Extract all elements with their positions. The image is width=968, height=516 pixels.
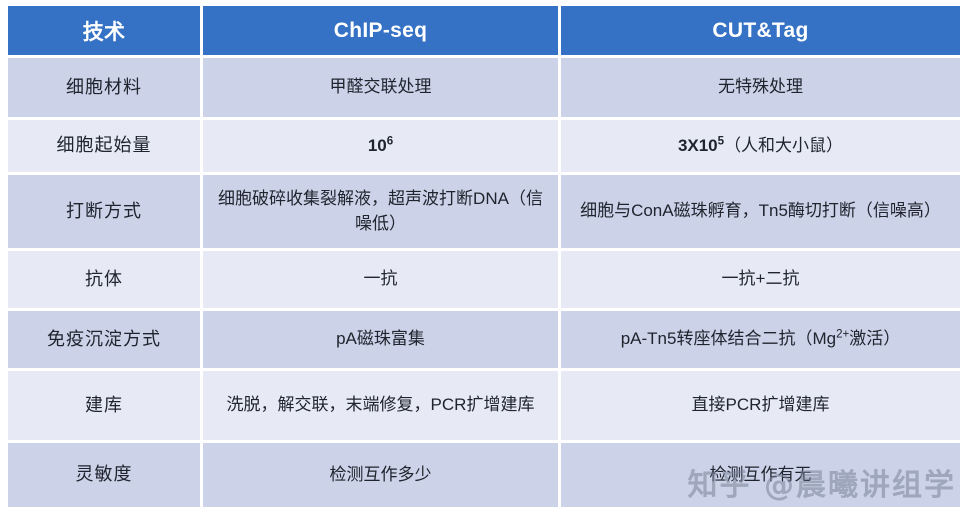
cell-chipseq-antibody: 一抗 [203,251,561,311]
screenshot-root: 技术 ChIP-seq CUT&Tag 细胞材料 甲醛交联处理 无特殊处理 细胞… [0,0,968,516]
cell-chipseq-cell-amount: 106 [203,120,561,175]
cell-chipseq-library-prep: 洗脱，解交联，末端修复，PCR扩增建库 [203,371,561,443]
table-row: 打断方式 细胞破碎收集裂解液，超声波打断DNA（信噪低） 细胞与ConA磁珠孵育… [8,175,960,251]
cell-attribute-cell-amount: 细胞起始量 [8,120,203,175]
cell-chipseq-cell-material: 甲醛交联处理 [203,58,561,120]
cell-cuttag-antibody: 一抗+二抗 [561,251,960,311]
column-header-cuttag: CUT&Tag [561,6,960,58]
cuttag-amount-tail: （人和大小鼠） [724,136,843,155]
table-row: 免疫沉淀方式 pA磁珠富集 pA-Tn5转座体结合二抗（Mg2+激活） [8,311,960,371]
cell-cuttag-library-prep: 直接PCR扩增建库 [561,371,960,443]
table-row: 建库 洗脱，解交联，末端修复，PCR扩增建库 直接PCR扩增建库 [8,371,960,443]
cell-cuttag-sensitivity: 检测互作有无 [561,443,960,507]
table-body: 细胞材料 甲醛交联处理 无特殊处理 细胞起始量 106 3X105（人和大小鼠）… [8,58,960,507]
cell-attribute-antibody: 抗体 [8,251,203,311]
cell-chipseq-sensitivity: 检测互作多少 [203,443,561,507]
cuttag-ip-base: pA-Tn5转座体结合二抗（Mg [621,329,836,348]
technique-comparison-table: 技术 ChIP-seq CUT&Tag 细胞材料 甲醛交联处理 无特殊处理 细胞… [8,6,960,507]
cell-attribute-sensitivity: 灵敏度 [8,443,203,507]
chipseq-amount-exponent: 6 [387,135,393,147]
cell-cuttag-immunoprecipitation: pA-Tn5转座体结合二抗（Mg2+激活） [561,311,960,371]
table-row: 抗体 一抗 一抗+二抗 [8,251,960,311]
cuttag-amount-base: 3X10 [678,136,718,155]
cell-chipseq-shearing-method: 细胞破碎收集裂解液，超声波打断DNA（信噪低） [203,175,561,251]
cell-attribute-immunoprecipitation: 免疫沉淀方式 [8,311,203,371]
cell-cuttag-shearing-method: 细胞与ConA磁珠孵育，Tn5酶切打断（信噪高） [561,175,960,251]
cell-chipseq-immunoprecipitation: pA磁珠富集 [203,311,561,371]
cuttag-ip-charge: 2+ [836,329,849,341]
table-row: 灵敏度 检测互作多少 检测互作有无 [8,443,960,507]
column-header-chipseq: ChIP-seq [203,6,561,58]
column-header-attribute: 技术 [8,6,203,58]
cuttag-ip-tail: 激活） [849,329,900,348]
cell-attribute-library-prep: 建库 [8,371,203,443]
cell-attribute-shearing-method: 打断方式 [8,175,203,251]
table-row: 细胞材料 甲醛交联处理 无特殊处理 [8,58,960,120]
header-row: 技术 ChIP-seq CUT&Tag [8,6,960,58]
cell-cuttag-cell-material: 无特殊处理 [561,58,960,120]
table-row: 细胞起始量 106 3X105（人和大小鼠） [8,120,960,175]
chipseq-amount-base: 10 [368,136,387,155]
table-header: 技术 ChIP-seq CUT&Tag [8,6,960,58]
cell-cuttag-cell-amount: 3X105（人和大小鼠） [561,120,960,175]
cell-attribute-cell-material: 细胞材料 [8,58,203,120]
